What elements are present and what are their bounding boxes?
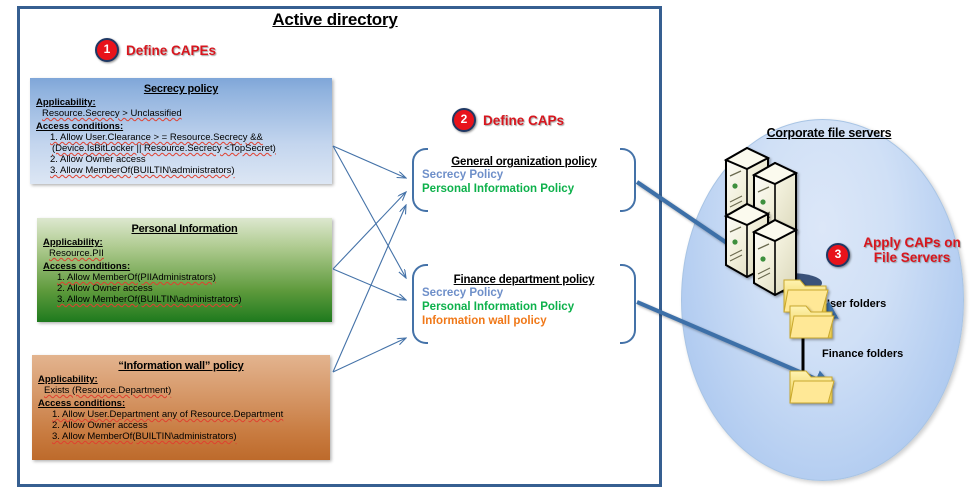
server-stack-icon bbox=[726, 148, 822, 295]
connector-layer bbox=[0, 0, 972, 502]
diagram-canvas: Active directory 1 Define CAPEs Secrecy … bbox=[0, 0, 972, 502]
cape-to-cap-arrows bbox=[333, 146, 406, 372]
